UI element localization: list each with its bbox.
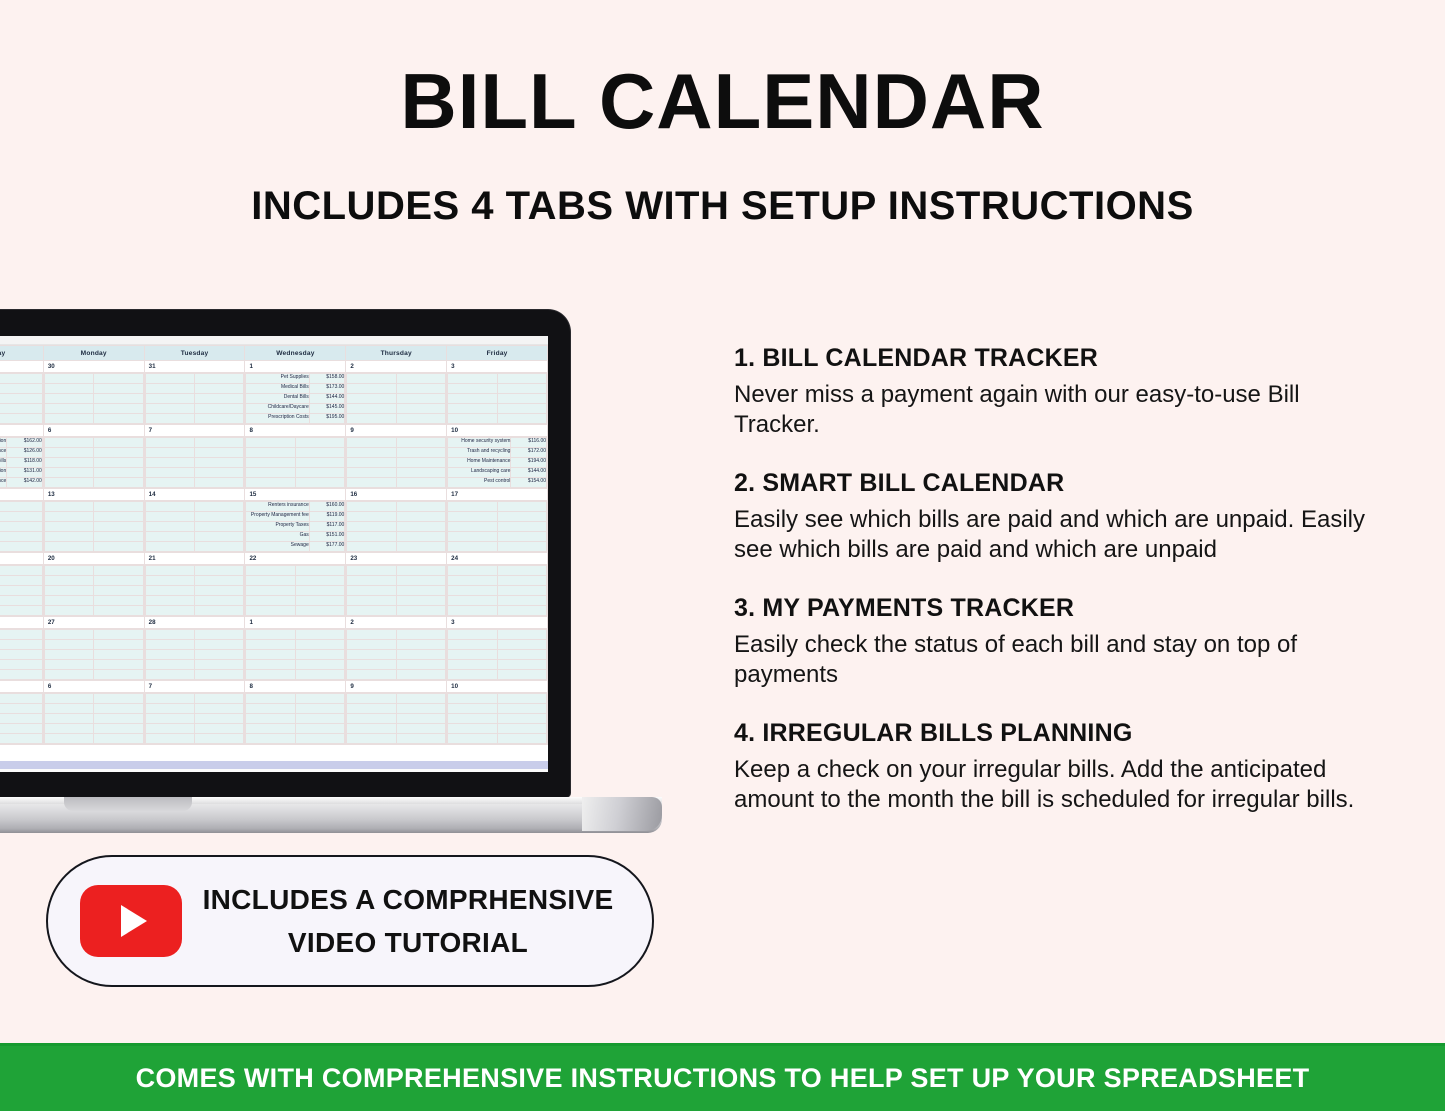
empty-grid-cell[interactable] xyxy=(295,566,344,576)
empty-grid-cell[interactable] xyxy=(0,586,42,596)
calendar-date-cell[interactable]: 23 xyxy=(346,553,447,565)
empty-grid-cell[interactable] xyxy=(448,660,497,670)
calendar-date-cell[interactable]: 9 xyxy=(346,425,447,437)
calendar-date-cell[interactable]: 2 xyxy=(346,361,447,373)
empty-grid-cell[interactable] xyxy=(347,404,396,414)
empty-grid-cell[interactable] xyxy=(497,596,546,606)
empty-grid-cell[interactable] xyxy=(94,694,143,704)
calendar-date-cell[interactable]: 10 xyxy=(447,425,548,437)
bill-row[interactable]: Renters insurance$160.00 xyxy=(246,502,345,512)
empty-grid-cell[interactable] xyxy=(195,724,244,734)
empty-grid-cell[interactable] xyxy=(145,468,194,478)
empty-grid-cell[interactable] xyxy=(497,734,546,744)
bill-row[interactable]: Pet Supplies$158.00 xyxy=(246,374,345,384)
empty-grid-cell[interactable] xyxy=(396,670,445,680)
empty-grid-cell[interactable] xyxy=(145,630,194,640)
empty-grid-cell[interactable] xyxy=(246,586,295,596)
empty-grid-cell[interactable] xyxy=(497,512,546,522)
empty-grid-cell[interactable] xyxy=(94,704,143,714)
calendar-date-cell[interactable]: 5 xyxy=(0,681,43,693)
empty-grid-cell[interactable] xyxy=(396,414,445,424)
empty-grid-cell[interactable] xyxy=(44,586,93,596)
bill-block[interactable]: Pet Supplies$158.00Medical Bills$173.00D… xyxy=(245,373,345,424)
empty-grid-cell[interactable] xyxy=(94,670,143,680)
empty-grid-cell[interactable] xyxy=(347,606,396,616)
bill-row[interactable]: Landscaping care$144.00 xyxy=(448,468,547,478)
empty-grid-cell[interactable] xyxy=(44,714,93,724)
empty-grid-cell[interactable] xyxy=(145,414,194,424)
empty-grid-cell[interactable] xyxy=(94,596,143,606)
empty-grid-cell[interactable] xyxy=(145,532,194,542)
calendar-body-cell[interactable] xyxy=(245,565,346,617)
calendar-date-cell[interactable]: 17 xyxy=(447,489,548,501)
empty-grid-cell[interactable] xyxy=(396,724,445,734)
calendar-body-cell[interactable] xyxy=(0,693,43,745)
empty-grid-cell[interactable] xyxy=(448,522,497,532)
empty-grid-cell[interactable] xyxy=(195,438,244,448)
empty-grid-cell[interactable] xyxy=(195,404,244,414)
empty-grid-cell[interactable] xyxy=(246,694,295,704)
calendar-date-cell[interactable]: 2 xyxy=(346,617,447,629)
empty-grid-cell[interactable] xyxy=(396,704,445,714)
empty-grid-cell[interactable] xyxy=(0,576,42,586)
bill-row[interactable]: Health Insurance$126.00 xyxy=(0,448,42,458)
calendar-body-cell[interactable] xyxy=(43,693,144,745)
empty-grid-cell[interactable] xyxy=(497,404,546,414)
empty-grid-cell[interactable] xyxy=(396,512,445,522)
empty-grid-cell[interactable] xyxy=(347,458,396,468)
empty-grid-cell[interactable] xyxy=(94,650,143,660)
calendar-date-cell[interactable]: 7 xyxy=(144,425,245,437)
empty-grid-cell[interactable] xyxy=(195,502,244,512)
empty-grid-cell[interactable] xyxy=(347,724,396,734)
empty-grid-cell[interactable] xyxy=(497,714,546,724)
empty-grid-cell[interactable] xyxy=(195,414,244,424)
empty-grid-cell[interactable] xyxy=(195,576,244,586)
calendar-body-cell[interactable]: Pet Supplies$158.00Medical Bills$173.00D… xyxy=(245,373,346,425)
empty-grid-cell[interactable] xyxy=(448,586,497,596)
empty-grid-cell[interactable] xyxy=(195,532,244,542)
empty-grid-cell[interactable] xyxy=(396,532,445,542)
calendar-body-cell[interactable]: Renters insurance$160.00Property Managem… xyxy=(245,501,346,553)
empty-grid-cell[interactable] xyxy=(246,714,295,724)
empty-grid-cell[interactable] xyxy=(0,606,42,616)
empty-grid-cell[interactable] xyxy=(448,714,497,724)
bill-block[interactable]: Transportation$162.00Health Insurance$12… xyxy=(0,437,43,488)
empty-grid-cell[interactable] xyxy=(347,704,396,714)
empty-grid-cell[interactable] xyxy=(44,522,93,532)
calendar-body-cell[interactable] xyxy=(346,501,447,553)
empty-grid-cell[interactable] xyxy=(497,724,546,734)
calendar-body-cell[interactable]: Transportation$162.00Health Insurance$12… xyxy=(0,437,43,489)
empty-grid-cell[interactable] xyxy=(0,596,42,606)
empty-grid-cell[interactable] xyxy=(295,640,344,650)
empty-grid-cell[interactable] xyxy=(94,606,143,616)
empty-grid-cell[interactable] xyxy=(195,542,244,552)
calendar-date-cell[interactable]: 22 xyxy=(245,553,346,565)
calendar-body-cell[interactable] xyxy=(144,501,245,553)
empty-grid-cell[interactable] xyxy=(145,694,194,704)
empty-grid-cell[interactable] xyxy=(246,650,295,660)
empty-grid-cell[interactable] xyxy=(497,566,546,576)
empty-grid-cell[interactable] xyxy=(145,660,194,670)
empty-grid-cell[interactable] xyxy=(448,512,497,522)
calendar-body-cell[interactable] xyxy=(447,501,548,553)
empty-grid-cell[interactable] xyxy=(295,468,344,478)
calendar-body-cell[interactable] xyxy=(447,373,548,425)
empty-grid-cell[interactable] xyxy=(195,478,244,488)
calendar-date-cell[interactable]: 31 xyxy=(144,361,245,373)
empty-grid-cell[interactable] xyxy=(295,694,344,704)
empty-grid-cell[interactable] xyxy=(497,374,546,384)
empty-grid-cell[interactable] xyxy=(195,734,244,744)
empty-grid-cell[interactable] xyxy=(448,566,497,576)
empty-grid-cell[interactable] xyxy=(347,576,396,586)
empty-grid-cell[interactable] xyxy=(44,458,93,468)
calendar-date-cell[interactable]: 10 xyxy=(447,681,548,693)
empty-grid-cell[interactable] xyxy=(0,512,42,522)
empty-grid-cell[interactable] xyxy=(246,670,295,680)
empty-grid-cell[interactable] xyxy=(497,704,546,714)
empty-grid-cell[interactable] xyxy=(195,566,244,576)
bill-row[interactable]: Dental Bills$144.00 xyxy=(246,394,345,404)
empty-grid-cell[interactable] xyxy=(44,404,93,414)
empty-grid-cell[interactable] xyxy=(497,384,546,394)
empty-grid-cell[interactable] xyxy=(0,394,42,404)
empty-grid-cell[interactable] xyxy=(448,724,497,734)
empty-grid-cell[interactable] xyxy=(497,630,546,640)
empty-grid-cell[interactable] xyxy=(448,650,497,660)
empty-grid-cell[interactable] xyxy=(44,468,93,478)
empty-grid-cell[interactable] xyxy=(195,458,244,468)
calendar-date-cell[interactable]: 26 xyxy=(0,617,43,629)
empty-grid-cell[interactable] xyxy=(145,404,194,414)
empty-grid-cell[interactable] xyxy=(44,576,93,586)
empty-grid-cell[interactable] xyxy=(145,438,194,448)
calendar-date-cell[interactable]: 19 xyxy=(0,553,43,565)
empty-grid-cell[interactable] xyxy=(44,724,93,734)
empty-grid-cell[interactable] xyxy=(295,596,344,606)
bill-row[interactable]: Prescription Costs$195.00 xyxy=(246,414,345,424)
empty-grid-cell[interactable] xyxy=(396,384,445,394)
empty-grid-cell[interactable] xyxy=(0,724,42,734)
empty-grid-cell[interactable] xyxy=(347,522,396,532)
empty-grid-cell[interactable] xyxy=(396,596,445,606)
empty-grid-cell[interactable] xyxy=(145,596,194,606)
calendar-body-cell[interactable] xyxy=(346,565,447,617)
empty-grid-cell[interactable] xyxy=(94,576,143,586)
empty-grid-cell[interactable] xyxy=(396,478,445,488)
calendar-date-cell[interactable]: 24 xyxy=(447,553,548,565)
calendar-body-cell[interactable] xyxy=(447,693,548,745)
empty-grid-cell[interactable] xyxy=(396,640,445,650)
calendar-date-cell[interactable]: 5 xyxy=(0,425,43,437)
empty-grid-cell[interactable] xyxy=(396,438,445,448)
empty-grid-cell[interactable] xyxy=(94,458,143,468)
empty-grid-cell[interactable] xyxy=(0,650,42,660)
empty-grid-cell[interactable] xyxy=(347,532,396,542)
empty-grid-cell[interactable] xyxy=(0,374,42,384)
empty-grid-cell[interactable] xyxy=(347,660,396,670)
bill-row[interactable]: Property Management fee$119.00 xyxy=(246,512,345,522)
empty-grid-cell[interactable] xyxy=(94,384,143,394)
empty-grid-cell[interactable] xyxy=(44,630,93,640)
calendar-body-cell[interactable] xyxy=(144,693,245,745)
calendar-date-cell[interactable]: 29 xyxy=(0,361,43,373)
empty-grid-cell[interactable] xyxy=(195,630,244,640)
empty-grid-cell[interactable] xyxy=(246,596,295,606)
empty-grid-cell[interactable] xyxy=(0,714,42,724)
empty-grid-cell[interactable] xyxy=(396,586,445,596)
bill-row[interactable]: Medical Bills$173.00 xyxy=(246,384,345,394)
empty-grid-cell[interactable] xyxy=(145,650,194,660)
empty-grid-cell[interactable] xyxy=(497,522,546,532)
calendar-date-cell[interactable]: 1 xyxy=(245,361,346,373)
calendar-body-cell[interactable] xyxy=(346,373,447,425)
empty-grid-cell[interactable] xyxy=(347,394,396,404)
calendar-date-cell[interactable]: 8 xyxy=(245,425,346,437)
bill-row[interactable]: Parking Maintenance$142.00 xyxy=(0,478,42,488)
empty-grid-cell[interactable] xyxy=(396,734,445,744)
empty-grid-cell[interactable] xyxy=(295,458,344,468)
bill-block[interactable]: Home security system$116.00Trash and rec… xyxy=(447,437,547,488)
empty-grid-cell[interactable] xyxy=(347,734,396,744)
empty-grid-cell[interactable] xyxy=(0,670,42,680)
empty-grid-cell[interactable] xyxy=(295,478,344,488)
calendar-body-cell[interactable] xyxy=(144,437,245,489)
empty-grid-cell[interactable] xyxy=(195,468,244,478)
bill-row[interactable]: Tuition$131.00 xyxy=(0,468,42,478)
empty-grid-cell[interactable] xyxy=(145,384,194,394)
empty-grid-cell[interactable] xyxy=(195,448,244,458)
empty-grid-cell[interactable] xyxy=(94,512,143,522)
empty-grid-cell[interactable] xyxy=(448,640,497,650)
empty-grid-cell[interactable] xyxy=(195,586,244,596)
empty-grid-cell[interactable] xyxy=(448,414,497,424)
empty-grid-cell[interactable] xyxy=(396,660,445,670)
empty-grid-cell[interactable] xyxy=(347,478,396,488)
empty-grid-cell[interactable] xyxy=(396,630,445,640)
empty-grid-cell[interactable] xyxy=(396,404,445,414)
calendar-body-cell[interactable] xyxy=(346,437,447,489)
empty-grid-cell[interactable] xyxy=(396,576,445,586)
calendar-date-cell[interactable]: 6 xyxy=(43,425,144,437)
empty-grid-cell[interactable] xyxy=(145,734,194,744)
empty-grid-cell[interactable] xyxy=(0,532,42,542)
empty-grid-cell[interactable] xyxy=(497,394,546,404)
empty-grid-cell[interactable] xyxy=(145,522,194,532)
empty-grid-cell[interactable] xyxy=(145,606,194,616)
video-tutorial-pill[interactable]: INCLUDES A COMPRHENSIVE VIDEO TUTORIAL xyxy=(46,855,654,987)
empty-grid-cell[interactable] xyxy=(246,458,295,468)
calendar-body-cell[interactable] xyxy=(144,373,245,425)
empty-grid-cell[interactable] xyxy=(94,734,143,744)
bill-row[interactable]: Gas$151.00 xyxy=(246,532,345,542)
empty-grid-cell[interactable] xyxy=(94,542,143,552)
empty-grid-cell[interactable] xyxy=(246,468,295,478)
empty-grid-cell[interactable] xyxy=(145,512,194,522)
calendar-date-cell[interactable]: 15 xyxy=(245,489,346,501)
empty-grid-cell[interactable] xyxy=(94,660,143,670)
empty-grid-cell[interactable] xyxy=(448,606,497,616)
empty-grid-cell[interactable] xyxy=(347,512,396,522)
empty-grid-cell[interactable] xyxy=(448,734,497,744)
empty-grid-cell[interactable] xyxy=(44,502,93,512)
empty-grid-cell[interactable] xyxy=(195,670,244,680)
empty-grid-cell[interactable] xyxy=(44,478,93,488)
empty-grid-cell[interactable] xyxy=(0,404,42,414)
empty-grid-cell[interactable] xyxy=(295,670,344,680)
empty-grid-cell[interactable] xyxy=(195,512,244,522)
empty-grid-cell[interactable] xyxy=(295,606,344,616)
calendar-body-cell[interactable] xyxy=(0,565,43,617)
empty-grid-cell[interactable] xyxy=(448,404,497,414)
empty-grid-cell[interactable] xyxy=(195,660,244,670)
empty-grid-cell[interactable] xyxy=(448,384,497,394)
calendar-body-cell[interactable] xyxy=(245,437,346,489)
calendar-date-cell[interactable]: 12 xyxy=(0,489,43,501)
empty-grid-cell[interactable] xyxy=(44,694,93,704)
empty-grid-cell[interactable] xyxy=(0,542,42,552)
empty-grid-cell[interactable] xyxy=(448,670,497,680)
calendar-body-cell[interactable] xyxy=(43,373,144,425)
empty-grid-cell[interactable] xyxy=(347,566,396,576)
calendar-date-cell[interactable]: 9 xyxy=(346,681,447,693)
empty-grid-cell[interactable] xyxy=(246,606,295,616)
empty-grid-cell[interactable] xyxy=(94,468,143,478)
empty-grid-cell[interactable] xyxy=(396,394,445,404)
empty-grid-cell[interactable] xyxy=(44,566,93,576)
empty-grid-cell[interactable] xyxy=(195,522,244,532)
empty-grid-cell[interactable] xyxy=(347,694,396,704)
empty-grid-cell[interactable] xyxy=(44,734,93,744)
empty-grid-cell[interactable] xyxy=(145,640,194,650)
bill-row[interactable]: Pest control$154.00 xyxy=(448,478,547,488)
calendar-body-cell[interactable] xyxy=(0,501,43,553)
empty-grid-cell[interactable] xyxy=(145,724,194,734)
empty-grid-cell[interactable] xyxy=(347,438,396,448)
bill-row[interactable]: Home Maintenance$194.00 xyxy=(448,458,547,468)
empty-grid-cell[interactable] xyxy=(0,384,42,394)
empty-grid-cell[interactable] xyxy=(347,502,396,512)
empty-grid-cell[interactable] xyxy=(44,374,93,384)
empty-grid-cell[interactable] xyxy=(497,650,546,660)
empty-grid-cell[interactable] xyxy=(94,724,143,734)
empty-grid-cell[interactable] xyxy=(246,704,295,714)
calendar-table[interactable]: SundayMondayTuesdayWednesdayThursdayFrid… xyxy=(0,345,548,745)
empty-grid-cell[interactable] xyxy=(145,502,194,512)
empty-grid-cell[interactable] xyxy=(396,566,445,576)
empty-grid-cell[interactable] xyxy=(497,640,546,650)
calendar-body-cell[interactable] xyxy=(0,629,43,681)
calendar-date-cell[interactable]: 14 xyxy=(144,489,245,501)
empty-grid-cell[interactable] xyxy=(347,630,396,640)
calendar-date-cell[interactable]: 28 xyxy=(144,617,245,629)
empty-grid-cell[interactable] xyxy=(396,448,445,458)
empty-grid-cell[interactable] xyxy=(195,714,244,724)
empty-grid-cell[interactable] xyxy=(145,394,194,404)
empty-grid-cell[interactable] xyxy=(347,714,396,724)
empty-grid-cell[interactable] xyxy=(448,394,497,404)
empty-grid-cell[interactable] xyxy=(396,542,445,552)
empty-grid-cell[interactable] xyxy=(295,586,344,596)
empty-grid-cell[interactable] xyxy=(295,704,344,714)
empty-grid-cell[interactable] xyxy=(246,640,295,650)
calendar-date-cell[interactable]: 16 xyxy=(346,489,447,501)
bill-row[interactable]: Sewage$177.00 xyxy=(246,542,345,552)
empty-grid-cell[interactable] xyxy=(448,704,497,714)
empty-grid-cell[interactable] xyxy=(94,532,143,542)
empty-grid-cell[interactable] xyxy=(396,468,445,478)
spreadsheet-bill-calendar[interactable]: SundayMondayTuesdayWednesdayThursdayFrid… xyxy=(0,336,548,772)
calendar-date-cell[interactable]: 7 xyxy=(144,681,245,693)
empty-grid-cell[interactable] xyxy=(145,714,194,724)
empty-grid-cell[interactable] xyxy=(246,448,295,458)
empty-grid-cell[interactable] xyxy=(44,596,93,606)
empty-grid-cell[interactable] xyxy=(246,438,295,448)
empty-grid-cell[interactable] xyxy=(448,542,497,552)
empty-grid-cell[interactable] xyxy=(0,566,42,576)
empty-grid-cell[interactable] xyxy=(94,438,143,448)
empty-grid-cell[interactable] xyxy=(94,586,143,596)
empty-grid-cell[interactable] xyxy=(497,694,546,704)
empty-grid-cell[interactable] xyxy=(396,694,445,704)
empty-grid-cell[interactable] xyxy=(94,374,143,384)
empty-grid-cell[interactable] xyxy=(0,640,42,650)
empty-grid-cell[interactable] xyxy=(497,542,546,552)
empty-grid-cell[interactable] xyxy=(347,596,396,606)
empty-grid-cell[interactable] xyxy=(295,660,344,670)
calendar-body-cell[interactable] xyxy=(346,629,447,681)
empty-grid-cell[interactable] xyxy=(448,630,497,640)
empty-grid-cell[interactable] xyxy=(295,576,344,586)
empty-grid-cell[interactable] xyxy=(94,404,143,414)
empty-grid-cell[interactable] xyxy=(44,704,93,714)
empty-grid-cell[interactable] xyxy=(44,394,93,404)
empty-grid-cell[interactable] xyxy=(246,660,295,670)
empty-grid-cell[interactable] xyxy=(246,724,295,734)
empty-grid-cell[interactable] xyxy=(0,694,42,704)
empty-grid-cell[interactable] xyxy=(497,502,546,512)
empty-grid-cell[interactable] xyxy=(94,478,143,488)
empty-grid-cell[interactable] xyxy=(94,522,143,532)
calendar-body-cell[interactable] xyxy=(245,693,346,745)
empty-grid-cell[interactable] xyxy=(44,448,93,458)
empty-grid-cell[interactable] xyxy=(44,512,93,522)
empty-grid-cell[interactable] xyxy=(246,734,295,744)
bill-row[interactable]: Property Taxes$117.00 xyxy=(246,522,345,532)
calendar-body-cell[interactable] xyxy=(43,565,144,617)
calendar-body-cell[interactable] xyxy=(447,565,548,617)
empty-grid-cell[interactable] xyxy=(448,502,497,512)
empty-grid-cell[interactable] xyxy=(347,670,396,680)
empty-grid-cell[interactable] xyxy=(44,670,93,680)
empty-grid-cell[interactable] xyxy=(497,606,546,616)
empty-grid-cell[interactable] xyxy=(145,566,194,576)
empty-grid-cell[interactable] xyxy=(94,448,143,458)
empty-grid-cell[interactable] xyxy=(347,650,396,660)
empty-grid-cell[interactable] xyxy=(44,414,93,424)
empty-grid-cell[interactable] xyxy=(94,714,143,724)
empty-grid-cell[interactable] xyxy=(448,374,497,384)
empty-grid-cell[interactable] xyxy=(347,374,396,384)
empty-grid-cell[interactable] xyxy=(246,576,295,586)
empty-grid-cell[interactable] xyxy=(195,374,244,384)
calendar-date-cell[interactable]: 8 xyxy=(245,681,346,693)
empty-grid-cell[interactable] xyxy=(295,630,344,640)
empty-grid-cell[interactable] xyxy=(44,660,93,670)
empty-grid-cell[interactable] xyxy=(295,714,344,724)
